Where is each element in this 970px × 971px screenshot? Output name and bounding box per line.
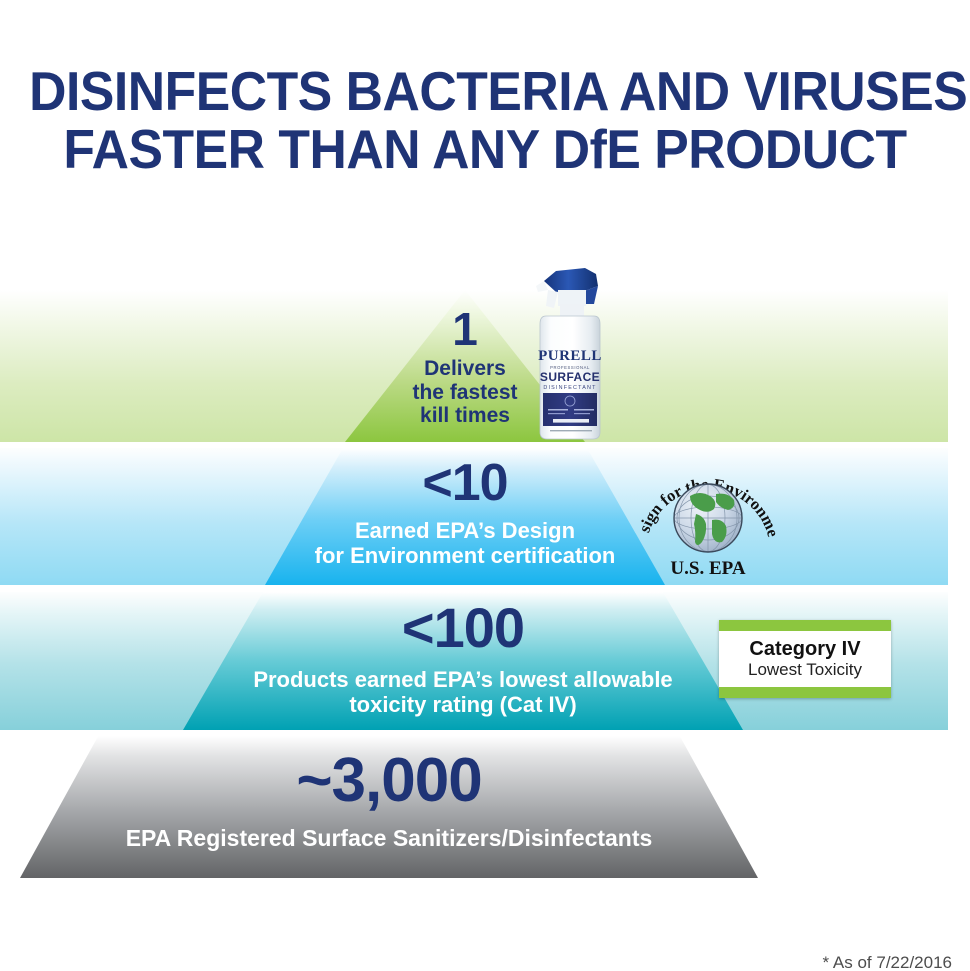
badge-top-bar: [719, 620, 891, 631]
svg-text:SURFACE: SURFACE: [540, 370, 600, 384]
badge-title: Category IV: [749, 639, 860, 660]
purell-brand-text: PURELL: [538, 348, 602, 364]
headline-line-1: DISINFECTS BACTERIA AND VIRUSES: [29, 62, 941, 120]
tier-2-description: Earned EPA’s Design for Environment cert…: [265, 519, 665, 568]
svg-text:DISINFECTANT: DISINFECTANT: [543, 385, 596, 391]
tier-2-number: <10: [265, 457, 665, 509]
tier-3-text: <100 Products earned EPA’s lowest allowa…: [183, 600, 743, 717]
tier-3-number: <100: [183, 600, 743, 656]
infographic-canvas: DISINFECTS BACTERIA AND VIRUSES FASTER T…: [0, 0, 970, 971]
purell-spray-bottle-image: PURELL PROFESSIONAL SURFACE DISINFECTANT: [522, 262, 618, 444]
badge-body: Category IV Lowest Toxicity: [719, 631, 891, 687]
badge-subtitle: Lowest Toxicity: [748, 661, 862, 680]
globe-icon: [674, 484, 742, 552]
badge-bottom-bar: [719, 687, 891, 698]
headline-line-2: FASTER THAN ANY DfE PRODUCT: [29, 120, 941, 178]
sprayer-head-icon: [536, 268, 598, 308]
dfe-agency-text: U.S. EPA: [670, 558, 745, 579]
pyramid-tier-3: <100 Products earned EPA’s lowest allowa…: [183, 592, 743, 730]
category-iv-badge: Category IV Lowest Toxicity: [719, 620, 891, 698]
tier-2-text: <10 Earned EPA’s Design for Environment …: [265, 457, 665, 568]
tier-4-number: ~3,000: [20, 750, 758, 812]
pyramid-tier-2: <10 Earned EPA’s Design for Environment …: [265, 448, 665, 585]
tier-3-description: Products earned EPA’s lowest allowable t…: [183, 668, 743, 717]
page-title: DISINFECTS BACTERIA AND VIRUSES FASTER T…: [0, 62, 970, 179]
tier-4-description: EPA Registered Surface Sanitizers/Disinf…: [20, 826, 758, 852]
tier-4-text: ~3,000 EPA Registered Surface Sanitizers…: [20, 750, 758, 852]
pyramid-tier-4: ~3,000 EPA Registered Surface Sanitizers…: [20, 736, 758, 878]
footnote: * As of 7/22/2016: [0, 953, 952, 971]
dfe-epa-seal-icon: Design for the Environment U.S.: [638, 452, 778, 584]
